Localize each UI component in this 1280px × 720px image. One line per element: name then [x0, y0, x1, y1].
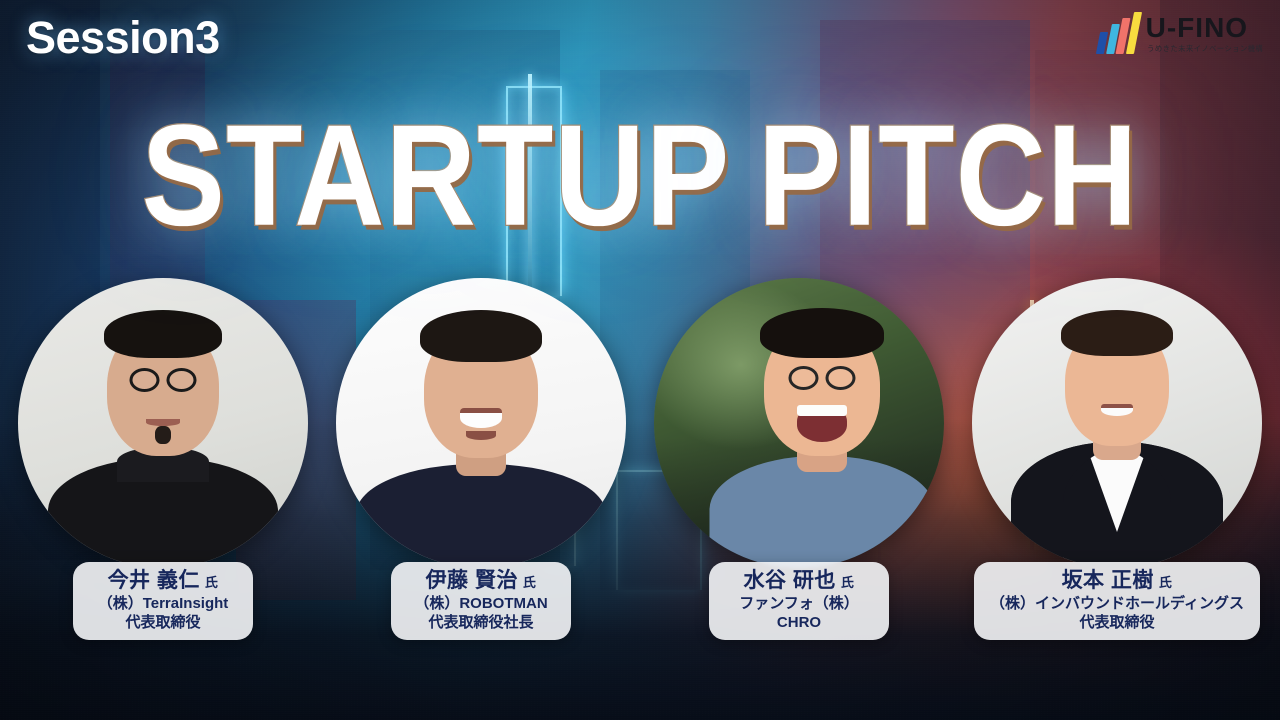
- speaker-card[interactable]: 伊藤 賢治氏 （株）ROBOTMAN 代表取締役社長: [333, 278, 629, 640]
- page-title: STARTUPPITCH: [0, 104, 1280, 248]
- speaker-portrait: [654, 278, 944, 568]
- speaker-title: 代表取締役: [89, 614, 237, 633]
- speaker-name-card: 坂本 正樹氏 （株）インバウンドホールディングス 代表取締役: [974, 562, 1260, 640]
- speaker-name-card: 水谷 研也氏 ファンフォ（株） CHRO: [709, 562, 889, 640]
- speaker-portrait: [18, 278, 308, 568]
- logo-tagline: うめきた未来イノベーション機構: [1147, 45, 1263, 53]
- speaker-org: ファンフォ（株）: [725, 595, 873, 614]
- speaker-list: 今井 義仁氏 （株）TerraInsight 代表取締役 伊藤 賢治氏: [0, 278, 1280, 668]
- speaker-card[interactable]: 水谷 研也氏 ファンフォ（株） CHRO: [651, 278, 947, 640]
- speaker-name-suffix: 氏: [841, 575, 855, 590]
- speaker-name-suffix: 氏: [205, 575, 219, 590]
- speaker-name-suffix: 氏: [523, 575, 537, 590]
- speaker-title: 代表取締役: [990, 614, 1244, 633]
- ufino-logo: U-FINO うめきた未来イノベーション機構: [1098, 12, 1264, 54]
- speaker-name: 坂本 正樹氏: [990, 569, 1244, 594]
- speaker-org: （株）ROBOTMAN: [407, 595, 555, 614]
- speaker-portrait: [336, 278, 626, 568]
- speaker-title: 代表取締役社長: [407, 614, 555, 633]
- speaker-name-card: 今井 義仁氏 （株）TerraInsight 代表取締役: [73, 562, 253, 640]
- logo-bars-icon: [1098, 12, 1138, 54]
- speaker-card[interactable]: 坂本 正樹氏 （株）インバウンドホールディングス 代表取締役: [969, 278, 1265, 640]
- speaker-name: 今井 義仁氏: [89, 569, 237, 594]
- title-word-pitch: PITCH: [758, 104, 1139, 248]
- speaker-org: （株）インバウンドホールディングス: [990, 595, 1244, 614]
- speaker-portrait: [972, 278, 1262, 568]
- presentation-slide: Session3 STARTUPPITCH U-FINO うめきた未来イノベーシ…: [0, 0, 1280, 720]
- speaker-name-suffix: 氏: [1159, 575, 1173, 590]
- speaker-card[interactable]: 今井 義仁氏 （株）TerraInsight 代表取締役: [15, 278, 311, 640]
- speaker-name: 伊藤 賢治氏: [407, 569, 555, 594]
- logo-name: U-FINO: [1146, 14, 1264, 42]
- logo-text: U-FINO うめきた未来イノベーション機構: [1146, 14, 1264, 53]
- title-word-startup: STARTUP: [142, 104, 731, 248]
- speaker-name-card: 伊藤 賢治氏 （株）ROBOTMAN 代表取締役社長: [391, 562, 571, 640]
- session-label: Session3: [26, 12, 220, 64]
- speaker-title: CHRO: [725, 614, 873, 633]
- speaker-org: （株）TerraInsight: [89, 595, 237, 614]
- speaker-name: 水谷 研也氏: [725, 569, 873, 594]
